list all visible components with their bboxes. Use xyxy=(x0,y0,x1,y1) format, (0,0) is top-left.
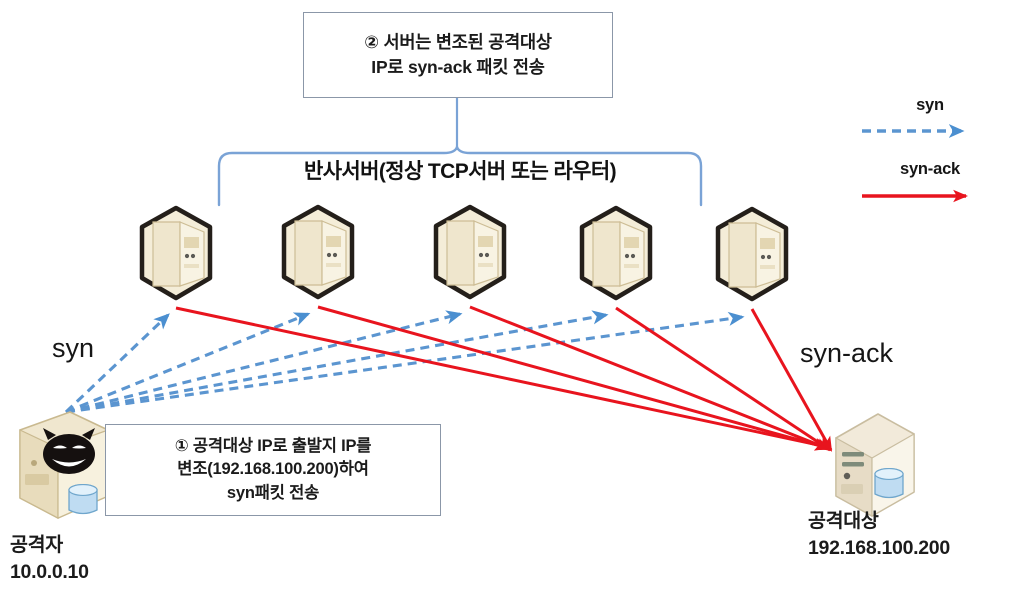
legend-item-syn-ack-label: syn-ack xyxy=(855,160,1005,179)
victim-ip: 192.168.100.200 xyxy=(808,535,950,562)
reflector-group-label: 반사서버(정상 TCP서버 또는 라우터) xyxy=(218,155,702,185)
callout-step-1: ① 공격대상 IP로 출발지 IP를 변조(192.168.100.200)하여… xyxy=(105,424,441,516)
legend-item-syn-ack-line xyxy=(855,179,1005,195)
callout-step-1-line-3: syn패킷 전송 xyxy=(227,482,319,505)
legend: syn syn-ack xyxy=(855,96,1005,202)
synack-arrow-3 xyxy=(470,307,829,449)
victim-server-icon[interactable] xyxy=(836,414,914,516)
legend-item-syn-label: syn xyxy=(855,96,1005,115)
attacker-ip: 10.0.0.10 xyxy=(10,559,89,586)
legend-item-syn: syn xyxy=(855,96,1005,138)
diagram-canvas: ② 서버는 변조된 공격대상 IP로 syn-ack 패킷 전송 반사서버(정상… xyxy=(0,0,1020,597)
callout-step-2-line-2: IP로 syn-ack 패킷 전송 xyxy=(371,55,544,80)
reflector-server-icon-5[interactable] xyxy=(718,209,786,299)
victim-name: 공격대상 xyxy=(808,508,950,535)
attacker-name: 공격자 xyxy=(10,532,89,559)
reflector-server-icon-2[interactable] xyxy=(284,207,352,297)
reflector-server-icon-3[interactable] xyxy=(436,207,504,297)
legend-item-syn-ack: syn-ack xyxy=(855,160,1005,202)
callout-step-1-line-2: 변조(192.168.100.200)하여 xyxy=(177,458,368,481)
reflector-server-icon-1[interactable] xyxy=(142,208,210,298)
syn-flow-label: syn xyxy=(52,333,94,364)
callout-step-2: ② 서버는 변조된 공격대상 IP로 syn-ack 패킷 전송 xyxy=(303,12,613,98)
reflector-server-icon-4[interactable] xyxy=(582,208,650,298)
attacker-label: 공격자 10.0.0.10 xyxy=(10,532,89,585)
attacker-pc-devil-icon[interactable] xyxy=(20,412,108,518)
callout-step-1-line-1: ① 공격대상 IP로 출발지 IP를 xyxy=(175,435,372,458)
victim-label: 공격대상 192.168.100.200 xyxy=(808,508,950,561)
legend-item-syn-line xyxy=(855,115,1005,131)
callout-step-2-line-1: ② 서버는 변조된 공격대상 xyxy=(364,30,552,55)
syn-ack-flow-label: syn-ack xyxy=(800,338,893,369)
